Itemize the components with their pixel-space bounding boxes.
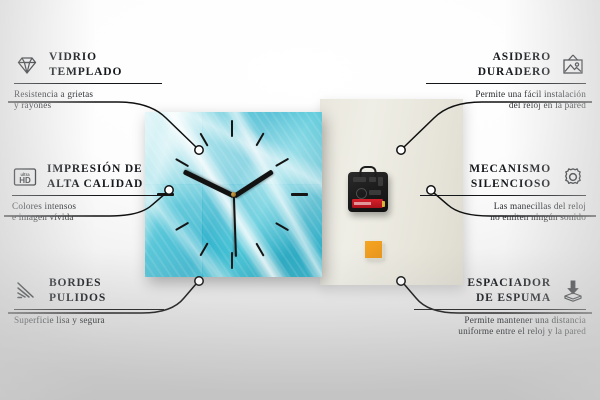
- feature-underline: [414, 309, 586, 310]
- feature-underline: [420, 195, 586, 196]
- infographic-canvas: VIDRIO TEMPLADO Resistencia a grietas y …: [0, 0, 600, 400]
- gear-icon: [560, 164, 586, 190]
- feature-heading-row: MECANISMO SILENCIOSO: [420, 162, 586, 191]
- feature-mecanismo-silencioso: MECANISMO SILENCIOSO Las manecillas del …: [420, 162, 586, 224]
- feature-title: IMPRESIÓN DE ALTA CALIDAD: [47, 162, 143, 191]
- feature-asidero-duradero: ASIDERO DURADERO Permite una fácil insta…: [426, 50, 586, 112]
- movement-hanger-loop: [360, 166, 377, 177]
- battery-positive-tip: [382, 201, 385, 207]
- hour-tick-3: [291, 193, 308, 196]
- feature-heading-row: ultra HD IMPRESIÓN DE ALTA CALIDAD: [12, 162, 180, 191]
- foam-spacer-pad: [365, 241, 382, 258]
- foam-spacer-arrow-icon: [560, 278, 586, 304]
- clock-center-cap: [231, 192, 236, 197]
- feature-description: Permite mantener una distancia uniforme …: [414, 315, 586, 338]
- svg-text:HD: HD: [19, 176, 31, 185]
- movement-slot-3: [378, 177, 383, 186]
- feature-description: Permite una fácil instalación del reloj …: [426, 89, 586, 112]
- wall-hanger-frame-icon: [560, 52, 586, 78]
- clock-movement-mechanism: [348, 172, 388, 212]
- feature-underline: [12, 195, 162, 196]
- aa-battery: [352, 199, 383, 208]
- feature-impresion-alta-calidad: ultra HD IMPRESIÓN DE ALTA CALIDAD Color…: [12, 162, 180, 224]
- feature-description: Colores intensos e imagen vívida: [12, 201, 180, 224]
- feature-heading-row: ASIDERO DURADERO: [426, 50, 586, 79]
- feature-heading-row: VIDRIO TEMPLADO: [14, 50, 174, 79]
- feature-bordes-pulidos: BORDES PULIDOS Superficie lisa y segura: [14, 276, 182, 326]
- movement-slot-4: [369, 190, 381, 195]
- feature-title: BORDES PULIDOS: [49, 276, 106, 305]
- feature-vidrio-templado: VIDRIO TEMPLADO Resistencia a grietas y …: [14, 50, 174, 112]
- movement-slot-1: [353, 177, 366, 182]
- feature-heading-row: ESPACIADOR DE ESPUMA: [414, 276, 586, 305]
- feature-heading-row: BORDES PULIDOS: [14, 276, 182, 305]
- feature-title: ASIDERO DURADERO: [478, 50, 551, 79]
- feature-title: MECANISMO SILENCIOSO: [469, 162, 551, 191]
- feature-description: Resistencia a grietas y rayones: [14, 89, 174, 112]
- movement-screw: [356, 188, 367, 199]
- feature-description: Las manecillas del reloj no emiten ningú…: [420, 201, 586, 224]
- feature-underline: [14, 83, 162, 84]
- feature-underline: [14, 309, 164, 310]
- feature-title: VIDRIO TEMPLADO: [49, 50, 122, 79]
- feature-espaciador-de-espuma: ESPACIADOR DE ESPUMA Permite mantener un…: [414, 276, 586, 338]
- battery-label-stripe: [354, 202, 371, 205]
- feature-description: Superficie lisa y segura: [14, 315, 182, 326]
- polished-edges-icon: [14, 278, 40, 304]
- ultra-hd-icon: ultra HD: [12, 164, 38, 190]
- movement-slot-2: [369, 177, 376, 182]
- feature-title: ESPACIADOR DE ESPUMA: [467, 276, 551, 305]
- diamond-icon: [14, 52, 40, 78]
- feature-underline: [426, 83, 586, 84]
